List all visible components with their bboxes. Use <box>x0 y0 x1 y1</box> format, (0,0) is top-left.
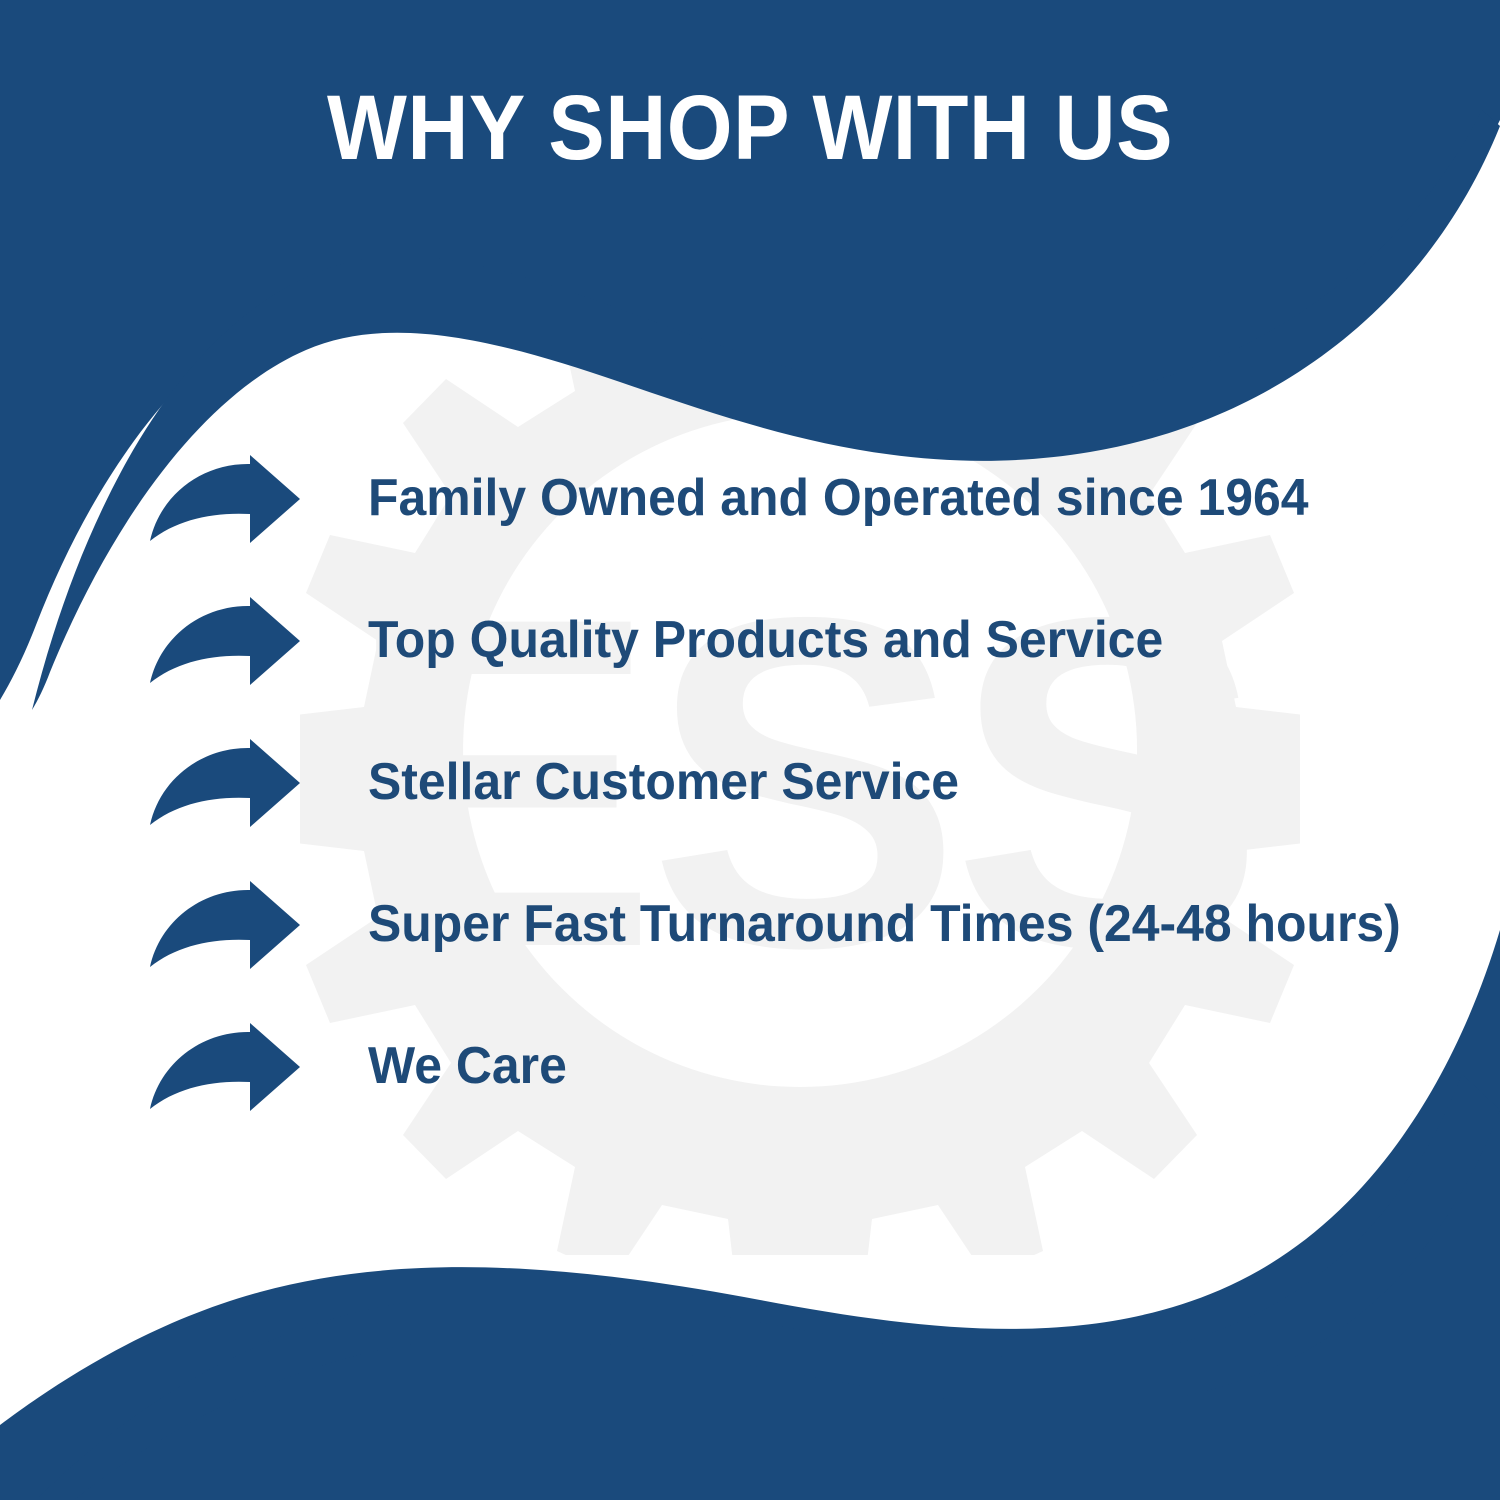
benefits-list: Family Owned and Operated since 1964 Top… <box>150 428 1450 1138</box>
why-shop-with-us-card: ESS WHY SHOP WITH US Family Owned and Op… <box>0 0 1500 1500</box>
list-item-label: Super Fast Turnaround Times (24-48 hours… <box>368 896 1401 953</box>
list-item-label: We Care <box>368 1038 567 1095</box>
curved-arrow-right-icon <box>150 597 300 685</box>
list-item: Family Owned and Operated since 1964 <box>150 428 1450 570</box>
list-item-label: Stellar Customer Service <box>368 754 959 811</box>
list-item: Super Fast Turnaround Times (24-48 hours… <box>150 854 1450 996</box>
curved-arrow-right-icon <box>150 455 300 543</box>
curved-arrow-right-icon <box>150 1023 300 1111</box>
list-item: Stellar Customer Service <box>150 712 1450 854</box>
curved-arrow-right-icon <box>150 881 300 969</box>
list-item: We Care <box>150 996 1450 1138</box>
list-item-label: Family Owned and Operated since 1964 <box>368 470 1309 527</box>
page-title: WHY SHOP WITH US <box>60 80 1440 177</box>
list-item-label: Top Quality Products and Service <box>368 612 1163 669</box>
list-item: Top Quality Products and Service <box>150 570 1450 712</box>
curved-arrow-right-icon <box>150 739 300 827</box>
